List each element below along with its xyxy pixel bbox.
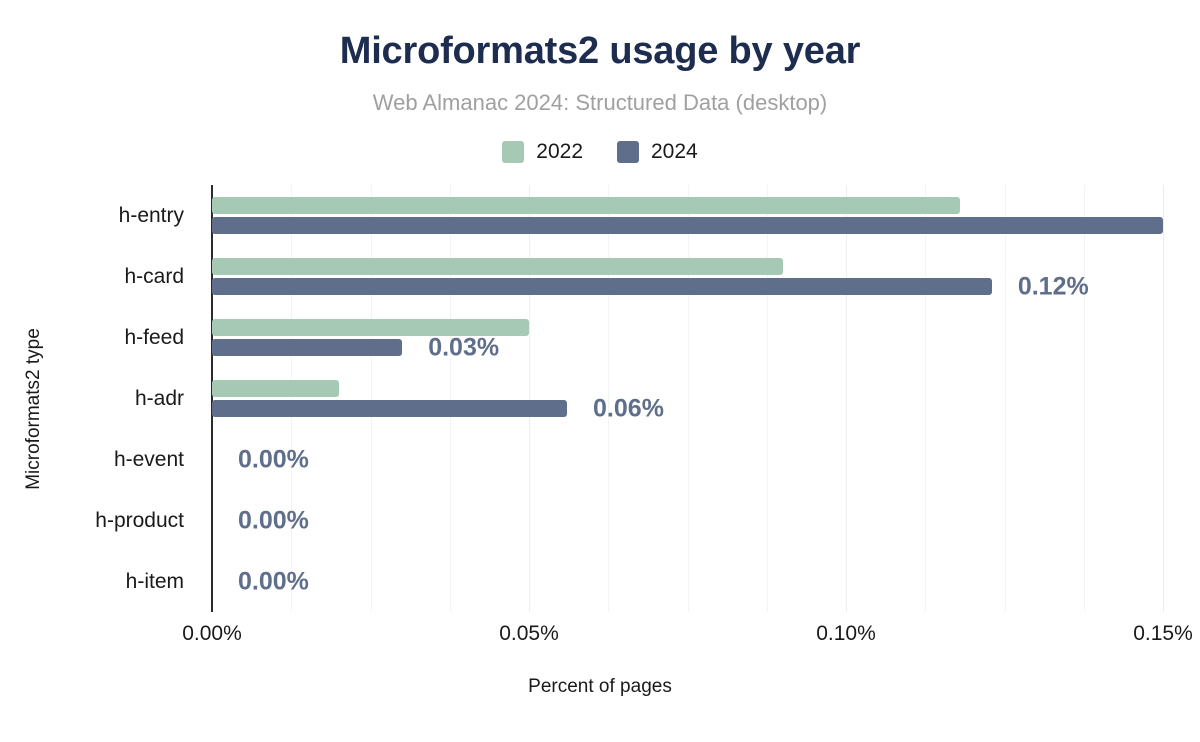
y-tick-label-h-entry: h-entry — [119, 204, 184, 228]
chart-figure: Microformats2 usage by year Web Almanac … — [0, 0, 1200, 742]
chart-legend: 2022 2024 — [0, 140, 1200, 164]
data-label-h-item: 0.00% — [238, 567, 309, 596]
bar-h-adr-2024[interactable] — [212, 400, 567, 417]
x-tick-label-1: 0.05% — [499, 622, 559, 646]
y-tick-label-h-feed: h-feed — [124, 326, 184, 350]
data-label-h-card: 0.12% — [1018, 272, 1089, 301]
plot-area: 0.12%0.03%0.06%0.00%0.00%0.00% — [212, 185, 1163, 612]
gridline-minor — [371, 185, 372, 612]
chart-title: Microformats2 usage by year — [0, 30, 1200, 73]
data-label-h-adr: 0.06% — [593, 394, 664, 423]
bar-h-card-2022[interactable] — [212, 258, 783, 275]
data-label-h-feed: 0.03% — [428, 333, 499, 362]
x-tick-mark — [211, 598, 213, 612]
bar-h-entry-2024[interactable] — [212, 217, 1163, 234]
data-label-h-event: 0.00% — [238, 445, 309, 474]
y-tick-label-h-event: h-event — [114, 448, 184, 472]
x-tick-label-0: 0.00% — [182, 622, 242, 646]
gridline-minor — [450, 185, 451, 612]
legend-swatch-2022 — [502, 141, 524, 163]
bar-h-feed-2024[interactable] — [212, 339, 402, 356]
y-tick-label-h-item: h-item — [126, 570, 184, 594]
y-tick-label-h-card: h-card — [124, 265, 184, 289]
gridline-major — [1163, 185, 1164, 612]
bar-h-card-2024[interactable] — [212, 278, 992, 295]
x-tick-label-3: 0.15% — [1133, 622, 1193, 646]
x-axis-ticks: 0.00%0.05%0.10%0.15% — [212, 612, 1163, 652]
bar-h-entry-2022[interactable] — [212, 197, 960, 214]
legend-label-2024: 2024 — [651, 140, 698, 164]
gridline-major — [846, 185, 847, 612]
y-axis-line — [211, 185, 213, 612]
x-tick-label-2: 0.10% — [816, 622, 876, 646]
y-tick-label-h-product: h-product — [95, 509, 184, 533]
gridline-minor — [688, 185, 689, 612]
y-tick-label-h-adr: h-adr — [135, 387, 184, 411]
legend-item-2024[interactable]: 2024 — [617, 140, 698, 164]
gridline-minor — [291, 185, 292, 612]
gridline-minor — [1005, 185, 1006, 612]
legend-swatch-2024 — [617, 141, 639, 163]
gridlines — [212, 185, 1163, 612]
gridline-minor — [925, 185, 926, 612]
legend-label-2022: 2022 — [536, 140, 583, 164]
gridline-major — [529, 185, 530, 612]
chart-subtitle: Web Almanac 2024: Structured Data (deskt… — [0, 90, 1200, 116]
gridline-minor — [1084, 185, 1085, 612]
bar-h-adr-2022[interactable] — [212, 380, 339, 397]
data-label-h-product: 0.00% — [238, 506, 309, 535]
x-axis-title: Percent of pages — [0, 676, 1200, 698]
legend-item-2022[interactable]: 2022 — [502, 140, 583, 164]
y-axis-title: Microformats2 type — [23, 259, 45, 559]
gridline-minor — [767, 185, 768, 612]
